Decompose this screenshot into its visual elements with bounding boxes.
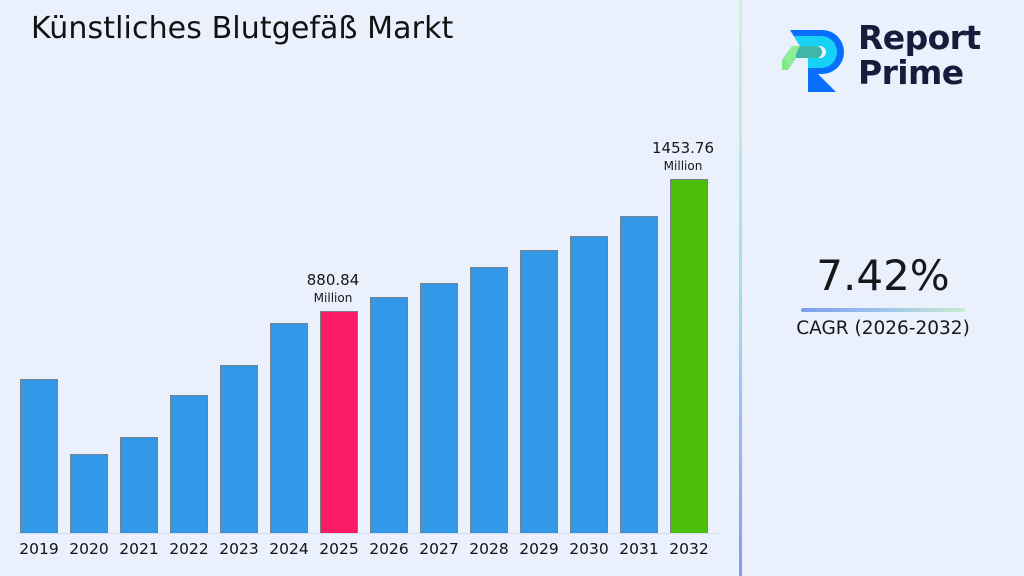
bar-2023[interactable]: [220, 365, 258, 533]
report-prime-logo-icon: [778, 20, 850, 92]
bar-slot-2023: [214, 110, 264, 534]
x-tick-2023: 2023: [214, 538, 264, 560]
x-tick-2020: 2020: [64, 538, 114, 560]
bar-slot-2030: [564, 110, 614, 534]
bar-slot-2026: [364, 110, 414, 534]
x-tick-2031: 2031: [614, 538, 664, 560]
bar-2029[interactable]: [520, 250, 558, 533]
brand-name-line2: Prime: [858, 55, 1014, 90]
brand-logo: Report Prime: [778, 12, 1014, 96]
bar-chart-plot-area: 880.84Million1453.76Million: [0, 110, 739, 534]
slide-root: Künstliches Blutgefäß Markt 880.84Millio…: [0, 0, 1024, 576]
bar-slot-2025: 880.84Million: [314, 110, 364, 534]
brand-name: Report Prime: [858, 20, 1014, 90]
bar-slot-2021: [114, 110, 164, 534]
bar-2021[interactable]: [120, 437, 158, 533]
bar-slot-2024: [264, 110, 314, 534]
bar-2025[interactable]: [320, 311, 358, 533]
bar-slot-2020: [64, 110, 114, 534]
x-tick-2030: 2030: [564, 538, 614, 560]
x-tick-2024: 2024: [264, 538, 314, 560]
x-tick-2021: 2021: [114, 538, 164, 560]
x-tick-2022: 2022: [164, 538, 214, 560]
bar-slot-2028: [464, 110, 514, 534]
bar-2030[interactable]: [570, 236, 608, 533]
brand-name-line1: Report: [858, 20, 1014, 55]
x-tick-2019: 2019: [14, 538, 64, 560]
bar-2026[interactable]: [370, 297, 408, 533]
bar-slot-2027: [414, 110, 464, 534]
x-axis-tick-labels: 2019202020212022202320242025202620272028…: [0, 538, 739, 568]
bar-unit-label-2032: Million: [636, 159, 730, 173]
x-axis-baseline: [14, 533, 720, 534]
bar-2024[interactable]: [270, 323, 308, 533]
bar-2022[interactable]: [170, 395, 208, 533]
x-tick-2029: 2029: [514, 538, 564, 560]
x-tick-2026: 2026: [364, 538, 414, 560]
bar-slot-2022: [164, 110, 214, 534]
bar-value-label-2032: 1453.76: [636, 140, 730, 157]
x-tick-2032: 2032: [664, 538, 714, 560]
bar-slot-2029: [514, 110, 564, 534]
cagr-caption: CAGR (2026-2032): [742, 316, 1024, 342]
cagr-value: 7.42%: [742, 250, 1024, 302]
bar-2020[interactable]: [70, 454, 108, 533]
chart-panel: 880.84Million1453.76Million 201920202021…: [0, 0, 739, 576]
bar-slot-2031: [614, 110, 664, 534]
x-tick-2025: 2025: [314, 538, 364, 560]
bar-2027[interactable]: [420, 283, 458, 533]
cagr-block: 7.42% CAGR (2026-2032): [742, 250, 1024, 342]
bar-2028[interactable]: [470, 267, 508, 533]
x-tick-2028: 2028: [464, 538, 514, 560]
bar-2031[interactable]: [620, 216, 658, 533]
bar-2019[interactable]: [20, 379, 58, 533]
cagr-divider-rule: [801, 308, 965, 312]
info-panel: Report Prime 7.42% CAGR (2026-2032): [742, 0, 1024, 576]
bar-slot-2019: [14, 110, 64, 534]
bar-slot-2032: 1453.76Million: [664, 110, 714, 534]
x-tick-2027: 2027: [414, 538, 464, 560]
bar-2032[interactable]: [670, 179, 708, 533]
